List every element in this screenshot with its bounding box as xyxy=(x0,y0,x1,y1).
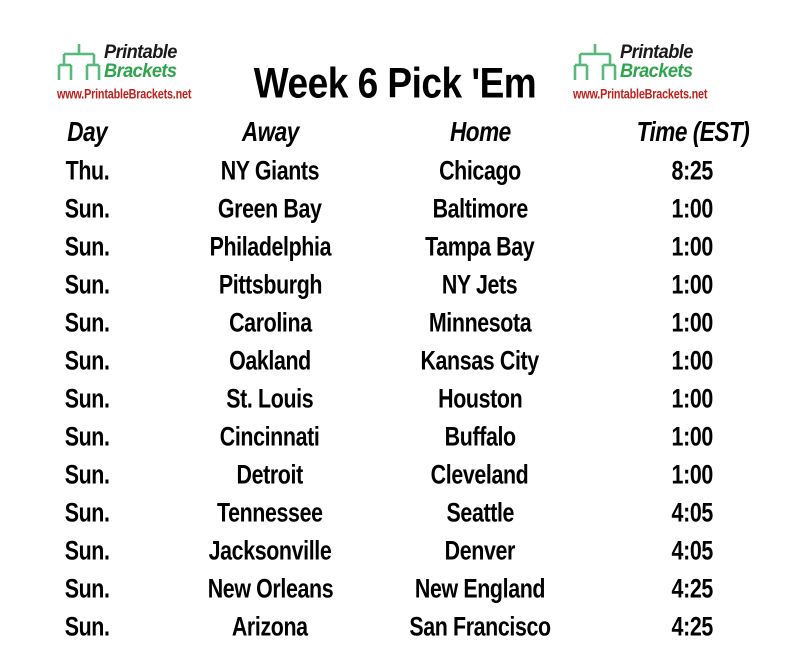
game-day: Sun. xyxy=(65,534,110,566)
game-time: 1:00 xyxy=(672,458,713,490)
game-time: 4:25 xyxy=(672,610,713,642)
home-team-cell: Kansas City xyxy=(365,341,595,379)
column-header-away: Away xyxy=(175,114,365,151)
away-team-cell: Carolina xyxy=(175,303,365,341)
away-team: Arizona xyxy=(232,610,308,642)
home-team-cell: San Francisco xyxy=(365,607,595,645)
page-header: Printable Brackets www.PrintableBrackets… xyxy=(0,0,790,112)
away-team-cell: St. Louis xyxy=(175,379,365,417)
game-time-cell: 1:00 xyxy=(595,227,790,265)
game-day: Sun. xyxy=(65,268,110,300)
away-team: Jacksonville xyxy=(209,534,332,566)
away-team: Tennessee xyxy=(217,496,323,528)
home-team-cell: Cleveland xyxy=(365,455,595,493)
home-team-cell: NY Jets xyxy=(365,265,595,303)
game-time-cell: 1:00 xyxy=(595,341,790,379)
column-header-time: Time (EST) xyxy=(595,114,790,151)
home-team-cell: Denver xyxy=(365,531,595,569)
table-row[interactable]: Sun.St. LouisHouston1:00 xyxy=(0,379,790,417)
game-day-cell: Sun. xyxy=(0,189,175,227)
game-day: Sun. xyxy=(65,382,110,414)
column-header-home: Home xyxy=(365,114,595,151)
home-team: Minnesota xyxy=(429,306,531,338)
table-row[interactable]: Sun.New OrleansNew England4:25 xyxy=(0,569,790,607)
game-time-cell: 4:05 xyxy=(595,493,790,531)
home-team: Denver xyxy=(445,534,515,566)
home-team-cell: Minnesota xyxy=(365,303,595,341)
game-time: 1:00 xyxy=(672,192,713,224)
table-row[interactable]: Sun.PittsburghNY Jets1:00 xyxy=(0,265,790,303)
table-row[interactable]: Sun.Green BayBaltimore1:00 xyxy=(0,189,790,227)
game-time: 4:05 xyxy=(672,534,713,566)
game-day: Sun. xyxy=(65,230,110,262)
home-team: Buffalo xyxy=(444,420,515,452)
game-day-cell: Sun. xyxy=(0,341,175,379)
table-row[interactable]: Sun.OaklandKansas City1:00 xyxy=(0,341,790,379)
table-header-row: Day Away Home Time (EST) xyxy=(0,114,790,151)
column-header-home-label: Home xyxy=(450,116,511,148)
home-team-cell: Buffalo xyxy=(365,417,595,455)
home-team-cell: Houston xyxy=(365,379,595,417)
game-time: 8:25 xyxy=(672,154,713,186)
table-row[interactable]: Thu.NY GiantsChicago8:25 xyxy=(0,151,790,189)
game-day-cell: Thu. xyxy=(0,151,175,189)
away-team-cell: Cincinnati xyxy=(175,417,365,455)
game-day: Sun. xyxy=(65,306,110,338)
game-time: 1:00 xyxy=(672,344,713,376)
column-header-day: Day xyxy=(0,114,175,151)
game-day: Sun. xyxy=(65,610,110,642)
home-team: Chicago xyxy=(439,154,521,186)
game-time: 1:00 xyxy=(672,230,713,262)
game-day: Thu. xyxy=(66,154,110,186)
home-team-cell: Tampa Bay xyxy=(365,227,595,265)
away-team-cell: Jacksonville xyxy=(175,531,365,569)
game-day-cell: Sun. xyxy=(0,607,175,645)
logo-right-top: Printable Brackets xyxy=(573,40,711,86)
away-team: NY Giants xyxy=(221,154,319,186)
home-team: Kansas City xyxy=(421,344,539,376)
table-row[interactable]: Sun.JacksonvilleDenver4:05 xyxy=(0,531,790,569)
away-team: New Orleans xyxy=(207,572,332,604)
away-team-cell: Philadelphia xyxy=(175,227,365,265)
game-day: Sun. xyxy=(65,496,110,528)
logo-right[interactable]: Printable Brackets www.PrintableBrackets… xyxy=(573,40,711,104)
table-row[interactable]: Sun.ArizonaSan Francisco4:25 xyxy=(0,607,790,645)
home-team-cell: Chicago xyxy=(365,151,595,189)
logo-word-brackets: Brackets xyxy=(620,63,693,82)
game-time-cell: 1:00 xyxy=(595,379,790,417)
game-day-cell: Sun. xyxy=(0,417,175,455)
away-team-cell: Pittsburgh xyxy=(175,265,365,303)
schedule-table-body: Thu.NY GiantsChicago8:25Sun.Green BayBal… xyxy=(0,151,790,645)
away-team: Carolina xyxy=(229,306,312,338)
schedule-table-head: Day Away Home Time (EST) xyxy=(0,114,790,151)
home-team-cell: Baltimore xyxy=(365,189,595,227)
away-team-cell: New Orleans xyxy=(175,569,365,607)
away-team-cell: Oakland xyxy=(175,341,365,379)
home-team: Houston xyxy=(438,382,522,414)
home-team: Tampa Bay xyxy=(425,230,534,262)
game-time-cell: 1:00 xyxy=(595,303,790,341)
game-day: Sun. xyxy=(65,458,110,490)
game-time-cell: 1:00 xyxy=(595,417,790,455)
game-day-cell: Sun. xyxy=(0,303,175,341)
away-team: Green Bay xyxy=(218,192,322,224)
game-time-cell: 1:00 xyxy=(595,189,790,227)
game-time-cell: 4:05 xyxy=(595,531,790,569)
home-team: Seattle xyxy=(446,496,514,528)
home-team: Cleveland xyxy=(431,458,529,490)
game-time: 4:25 xyxy=(672,572,713,604)
away-team-cell: NY Giants xyxy=(175,151,365,189)
game-day-cell: Sun. xyxy=(0,379,175,417)
game-time-cell: 1:00 xyxy=(595,455,790,493)
away-team-cell: Tennessee xyxy=(175,493,365,531)
game-day-cell: Sun. xyxy=(0,265,175,303)
away-team-cell: Green Bay xyxy=(175,189,365,227)
game-time-cell: 4:25 xyxy=(595,607,790,645)
table-row[interactable]: Sun.CarolinaMinnesota1:00 xyxy=(0,303,790,341)
game-day: Sun. xyxy=(65,192,110,224)
game-time-cell: 8:25 xyxy=(595,151,790,189)
game-time: 4:05 xyxy=(672,496,713,528)
away-team: Cincinnati xyxy=(220,420,320,452)
game-time: 1:00 xyxy=(672,268,713,300)
home-team-cell: Seattle xyxy=(365,493,595,531)
home-team-cell: New England xyxy=(365,569,595,607)
away-team: Philadelphia xyxy=(209,230,331,262)
game-day: Sun. xyxy=(65,344,110,376)
logo-right-wordmark: Printable Brackets xyxy=(620,44,696,81)
game-day-cell: Sun. xyxy=(0,493,175,531)
table-row[interactable]: Sun.PhiladelphiaTampa Bay1:00 xyxy=(0,227,790,265)
game-time-cell: 4:25 xyxy=(595,569,790,607)
column-header-day-label: Day xyxy=(68,116,108,148)
tournament-bracket-icon xyxy=(573,42,617,84)
game-day-cell: Sun. xyxy=(0,227,175,265)
game-day: Sun. xyxy=(65,572,110,604)
game-time: 1:00 xyxy=(672,306,713,338)
game-time-cell: 1:00 xyxy=(595,265,790,303)
away-team: St. Louis xyxy=(227,382,314,414)
away-team-cell: Detroit xyxy=(175,455,365,493)
away-team: Oakland xyxy=(229,344,311,376)
away-team: Detroit xyxy=(237,458,303,490)
home-team: New England xyxy=(415,572,545,604)
away-team: Pittsburgh xyxy=(218,268,321,300)
game-day-cell: Sun. xyxy=(0,531,175,569)
game-day: Sun. xyxy=(65,420,110,452)
table-row[interactable]: Sun.CincinnatiBuffalo1:00 xyxy=(0,417,790,455)
home-team: NY Jets xyxy=(442,268,517,300)
home-team: San Francisco xyxy=(409,610,550,642)
table-row[interactable]: Sun.DetroitCleveland1:00 xyxy=(0,455,790,493)
table-row[interactable]: Sun.TennesseeSeattle4:05 xyxy=(0,493,790,531)
game-time: 1:00 xyxy=(672,420,713,452)
schedule-table: Day Away Home Time (EST) Thu.NY GiantsCh… xyxy=(0,114,790,645)
column-header-time-label: Time (EST) xyxy=(636,116,749,148)
game-time: 1:00 xyxy=(672,382,713,414)
home-team: Baltimore xyxy=(432,192,527,224)
game-day-cell: Sun. xyxy=(0,455,175,493)
column-header-away-label: Away xyxy=(241,116,298,148)
game-day-cell: Sun. xyxy=(0,569,175,607)
logo-right-url[interactable]: www.PrintableBrackets.net xyxy=(573,88,703,102)
away-team-cell: Arizona xyxy=(175,607,365,645)
